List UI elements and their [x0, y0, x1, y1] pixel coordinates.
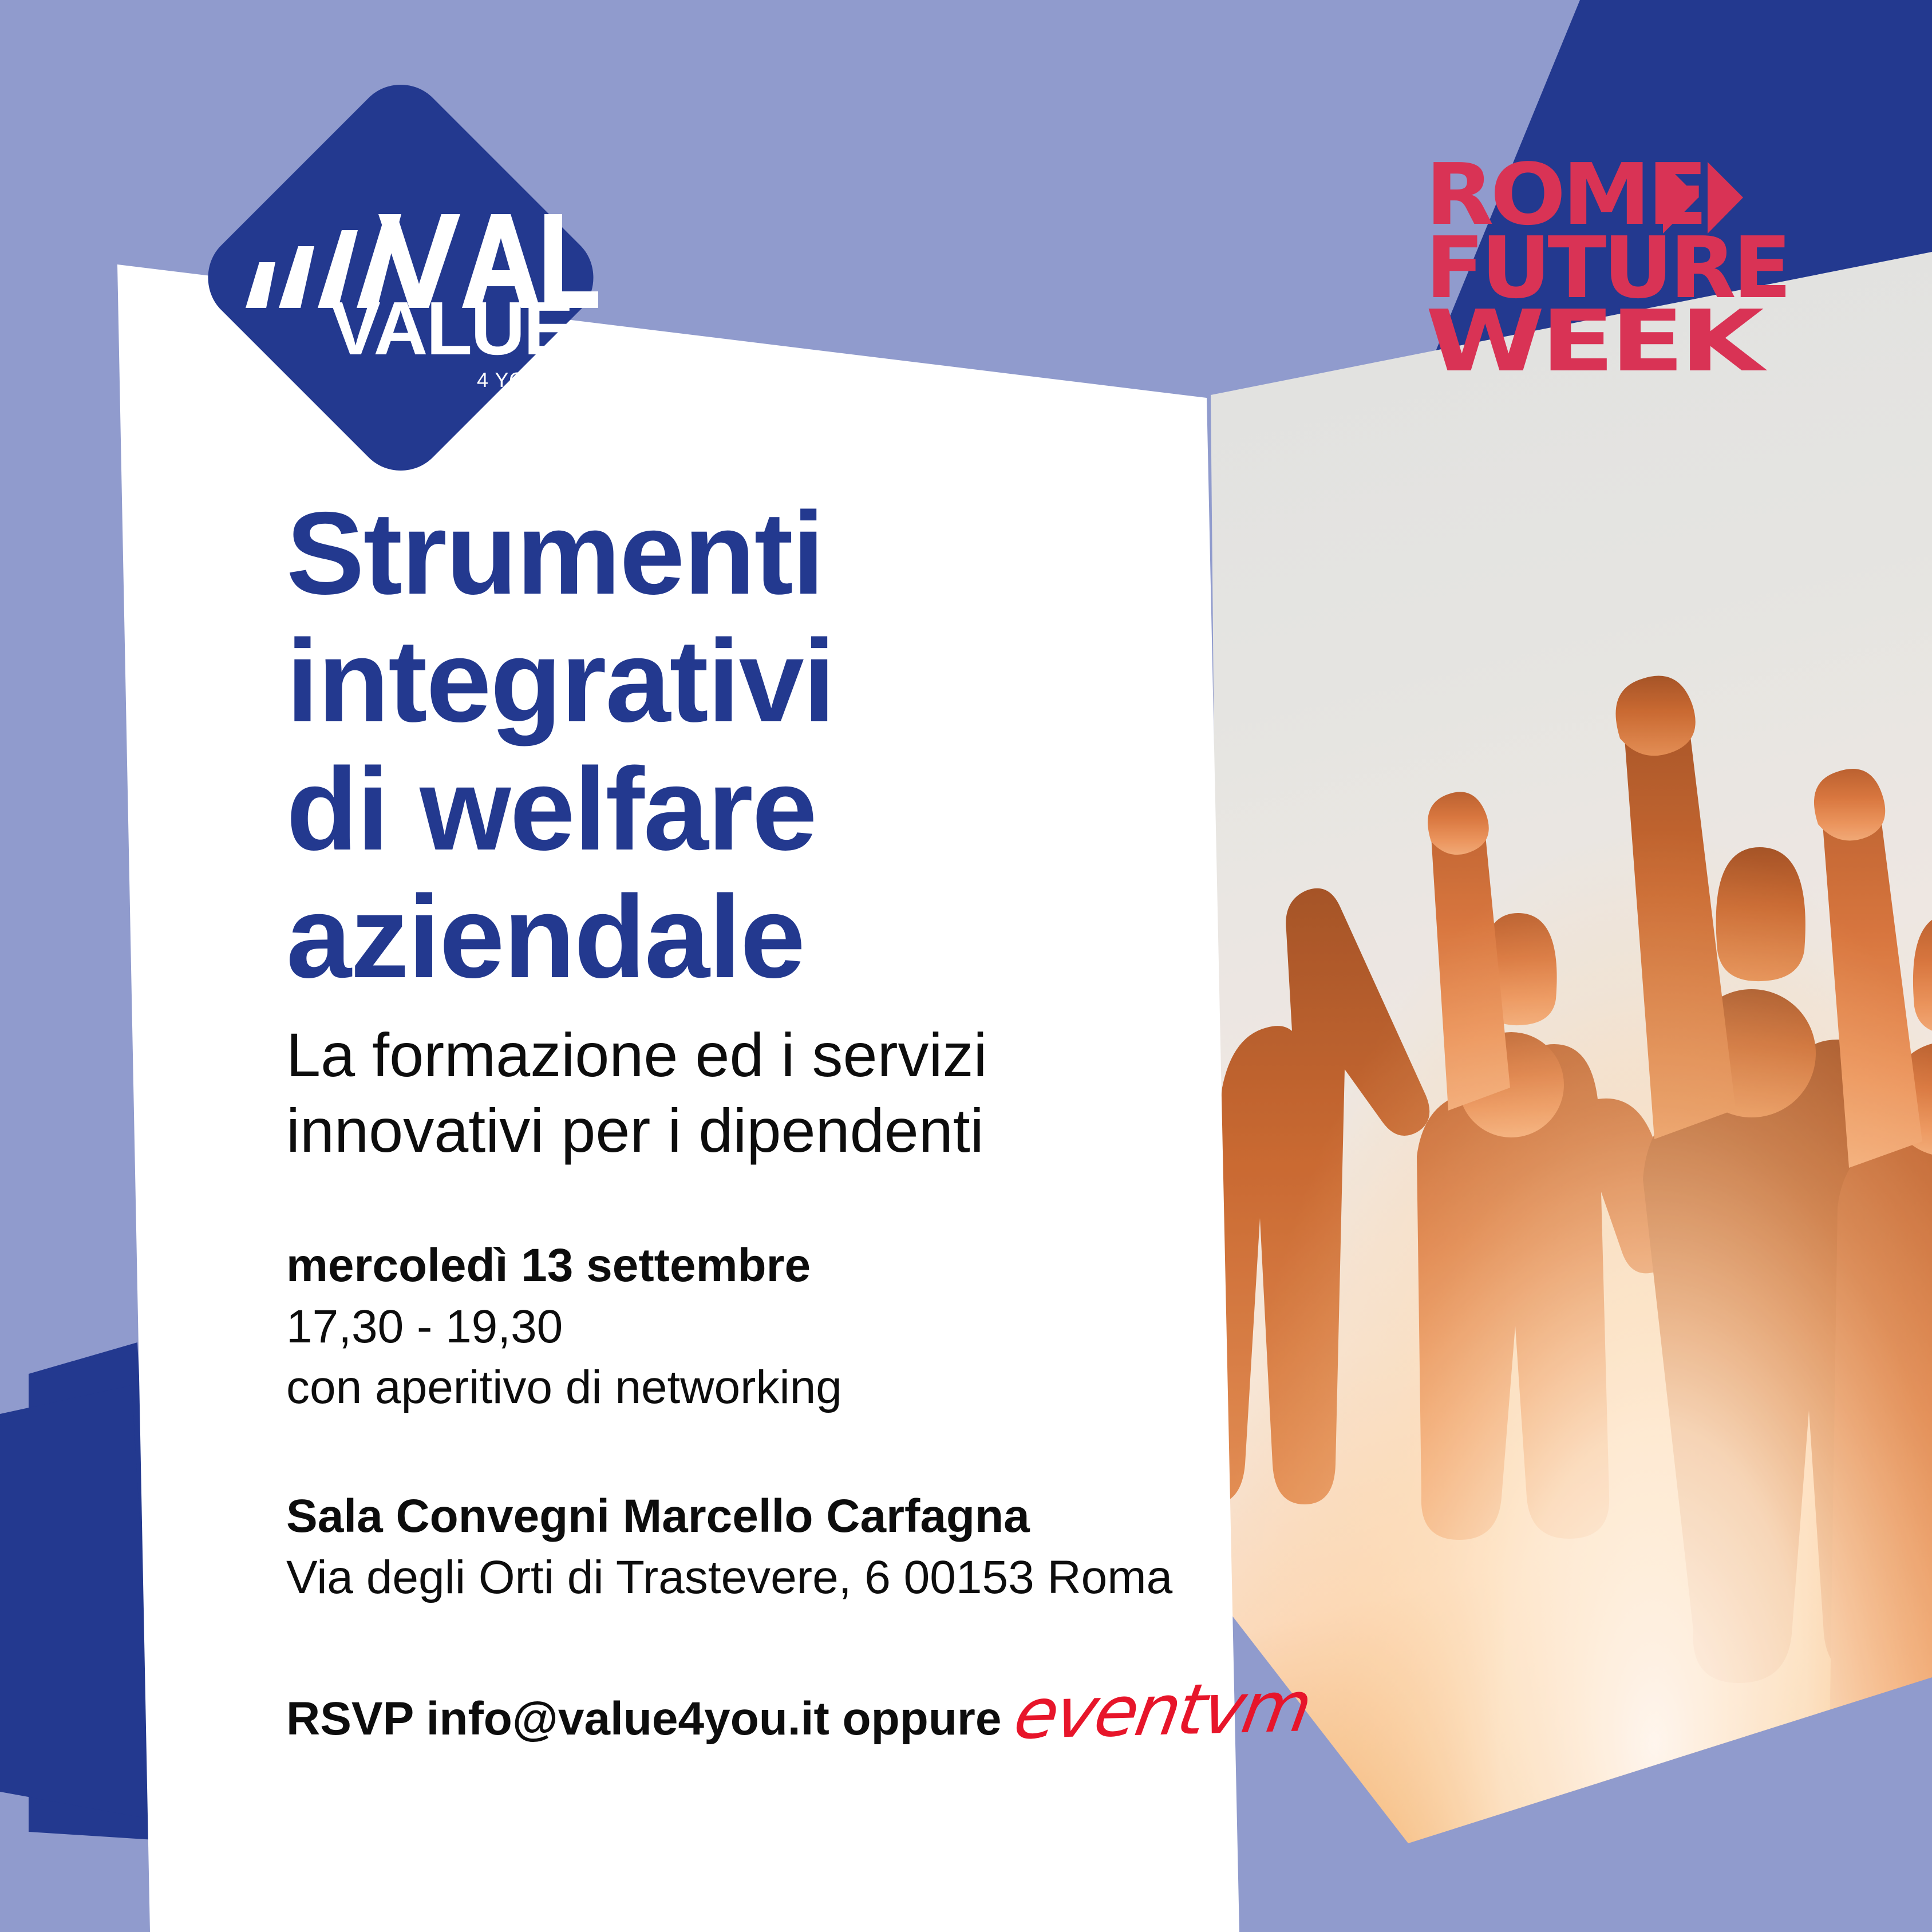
rsvp-block: RSVP info@value4you.it oppure eventvm	[286, 1676, 1179, 1750]
event-venue-block: Sala Convegni Marcello Carfagna Via degl…	[286, 1486, 1179, 1608]
page-title: Strumenti integrativi di welfare azienda…	[286, 489, 1179, 1001]
event-datetime-block: mercoledì 13 settembre 17,30 - 19,30 con…	[286, 1235, 1179, 1419]
venue-name: Sala Convegni Marcello Carfagna	[286, 1486, 1179, 1547]
eventvm-logo[interactable]: eventvm	[1010, 1672, 1315, 1749]
title-line-2: integrativi	[286, 617, 1179, 745]
event-flyer-poster: VALUE VALUE 4 YOU ROME FUTURE WEEK Strum…	[0, 0, 1932, 1932]
subtitle-line-2: innovativi per i dipendenti	[286, 1093, 1179, 1168]
event-time: 17,30 - 19,30	[286, 1297, 1179, 1358]
flyer-text-content: Strumenti integrativi di welfare azienda…	[286, 489, 1179, 1750]
photo-card	[1174, 218, 1932, 1888]
value4you-logo[interactable]: VALUE VALUE 4 YOU	[203, 80, 598, 475]
title-line-3: di welfare	[286, 745, 1179, 873]
title-line-1: Strumenti	[286, 489, 1179, 617]
rome-future-week-logo[interactable]: ROME FUTURE WEEK	[1425, 157, 1763, 386]
event-aperitivo-note: con aperitivo di networking	[286, 1357, 1179, 1419]
rsvp-text[interactable]: RSVP info@value4you.it oppure	[286, 1689, 1001, 1750]
left-blue-quad-2	[0, 1385, 157, 1820]
venue-address: Via degli Orti di Trastevere, 6 00153 Ro…	[286, 1547, 1179, 1609]
event-date: mercoledì 13 settembre	[286, 1235, 1179, 1297]
title-line-4: aziendale	[286, 873, 1179, 1001]
rfw-line-week: WEEK	[1425, 304, 1760, 378]
page-subtitle: La formazione ed i servizi innovativi pe…	[286, 1017, 1179, 1168]
subtitle-line-1: La formazione ed i servizi	[286, 1017, 1179, 1093]
